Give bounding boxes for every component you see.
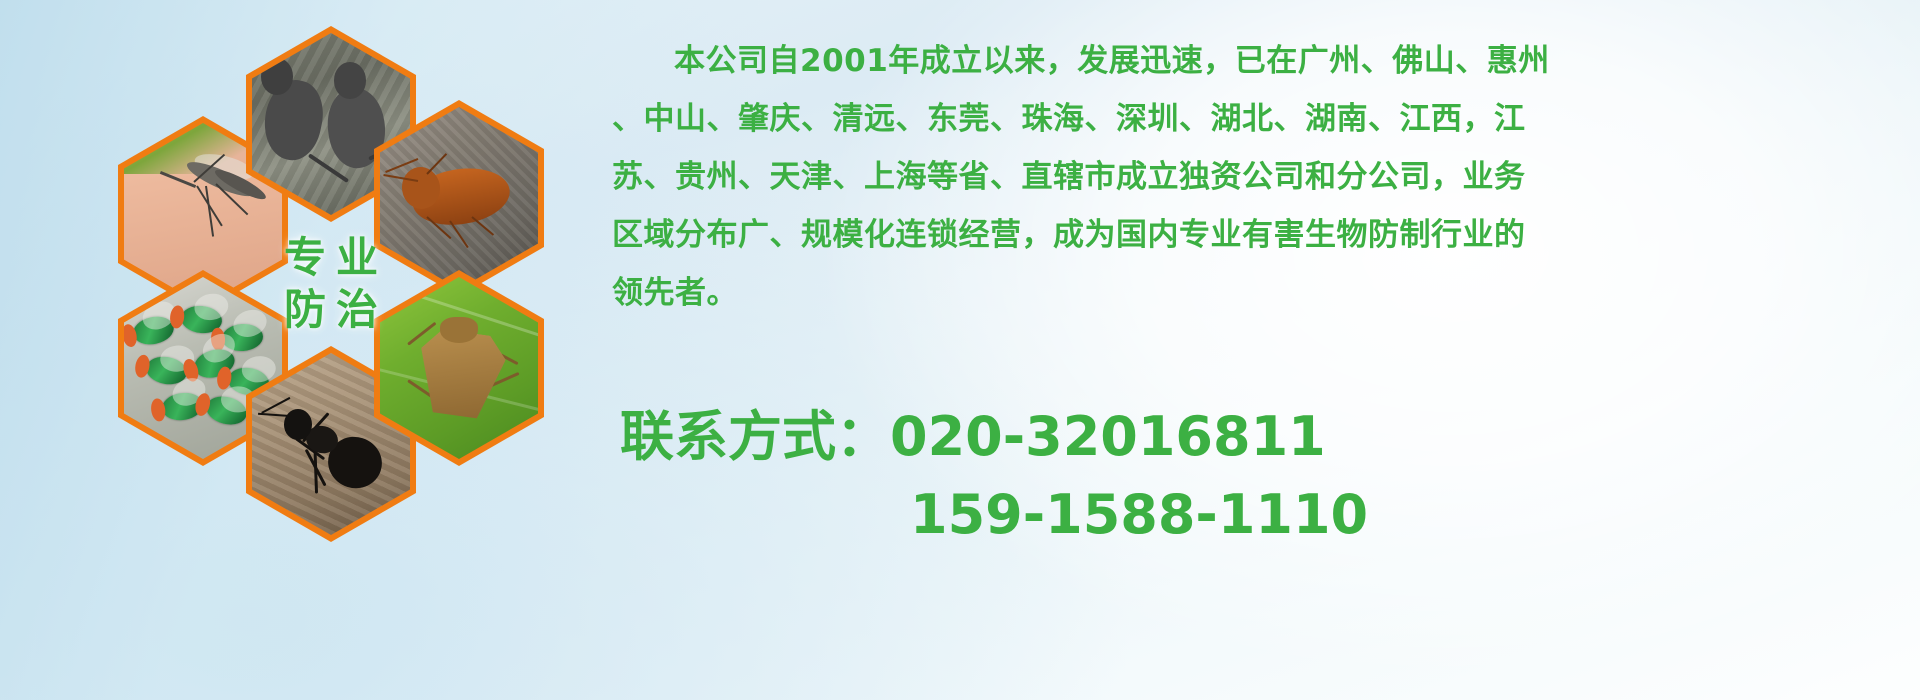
honeycomb-logo: 专业 防治 <box>88 8 588 568</box>
contact-phone-secondary[interactable]: 159-1588-1110 <box>620 476 1910 554</box>
description-line-2: 、中山、肇庆、清远、东莞、珠海、深圳、湖北、湖南、江西，江 <box>612 90 1892 148</box>
logo-slogan: 专业 防治 <box>246 186 416 382</box>
description-line-3: 苏、贵州、天津、上海等省、直辖市成立独资公司和分公司，业务 <box>612 148 1892 206</box>
company-description: 本公司自2001年成立以来，发展迅速，已在广州、佛山、惠州 、中山、肇庆、清远、… <box>612 32 1892 322</box>
logo-slogan-line2: 防治 <box>274 289 388 331</box>
logo-slogan-line1: 专业 <box>274 237 388 279</box>
contact-primary-row: 联系方式：020-32016811 <box>620 398 1910 476</box>
description-line-4: 区域分布广、规模化连锁经营，成为国内专业有害生物防制行业的 <box>612 206 1892 264</box>
contact-block: 联系方式：020-32016811 159-1588-1110 <box>620 398 1910 554</box>
description-line-1: 本公司自2001年成立以来，发展迅速，已在广州、佛山、惠州 <box>612 32 1892 90</box>
description-line-5: 领先者。 <box>612 264 1892 322</box>
contact-phone-primary[interactable]: 020-32016811 <box>890 405 1326 468</box>
promo-banner: 专业 防治 本公司自2001年成立以来，发展迅速，已在广州、佛山、惠州 、中山、… <box>0 0 1920 700</box>
contact-label: 联系方式： <box>620 405 890 468</box>
